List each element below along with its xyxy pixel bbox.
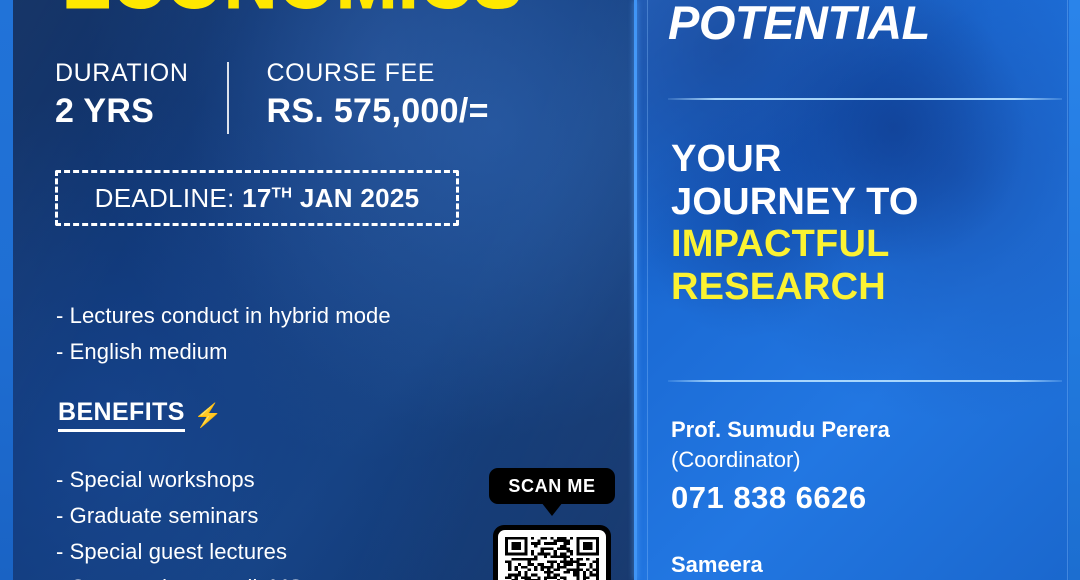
fact-course-fee-value: RS. 575,000/= <box>267 90 489 133</box>
journey-statement: YOUR JOURNEY TO IMPACTFUL RESEARCH <box>671 138 1051 308</box>
journey-line-1: YOUR <box>671 138 1051 181</box>
contact-role: (Coordinator) <box>671 445 1051 475</box>
deadline-rest: JAN 2025 <box>292 183 419 213</box>
left-panel: ECONOMICS DURATION 2 YRS COURSE FEE RS. … <box>0 0 636 580</box>
divider-top <box>668 98 1062 100</box>
divider-bottom <box>668 380 1062 382</box>
fact-duration-label: DURATION <box>55 58 189 89</box>
list-item: - English medium <box>56 334 391 370</box>
course-promo-poster: ECONOMICS DURATION 2 YRS COURSE FEE RS. … <box>0 0 1080 580</box>
list-item: - Graduate seminars <box>56 498 314 534</box>
deadline-prefix: DEADLINE: <box>95 183 243 213</box>
journey-line-4: RESEARCH <box>671 266 1051 309</box>
right-panel: UNLEASHING POTENTIAL YOUR JOURNEY TO IMP… <box>637 0 1080 580</box>
contact-block: Prof. Sumudu Perera (Coordinator) 071 83… <box>671 415 1051 580</box>
course-facts: DURATION 2 YRS COURSE FEE RS. 575,000/= <box>55 58 489 134</box>
journey-line-3: IMPACTFUL <box>671 223 1051 266</box>
panel-vertical-divider <box>634 0 637 580</box>
deadline-text: DEADLINE: 17TH JAN 2025 <box>95 183 420 214</box>
deadline-box: DEADLINE: 17TH JAN 2025 <box>55 170 459 226</box>
fact-duration: DURATION 2 YRS <box>55 58 189 133</box>
fact-duration-value: 2 YRS <box>55 90 189 133</box>
fact-separator <box>227 62 229 134</box>
qr-code-inner <box>498 530 606 580</box>
deadline-ordinal: TH <box>272 184 293 201</box>
benefits-heading-label: BENEFITS <box>58 398 185 432</box>
right-edge-accent-strip <box>1069 0 1080 580</box>
fact-course-fee: COURSE FEE RS. 575,000/= <box>267 58 489 133</box>
qr-code-frame[interactable] <box>493 525 611 580</box>
scan-me-label: SCAN ME <box>508 476 595 497</box>
delivery-mode-list: - Lectures conduct in hybrid mode - Engl… <box>56 298 391 369</box>
headline: UNLEASHING POTENTIAL <box>668 0 1068 46</box>
contact-name: Prof. Sumudu Perera <box>671 415 1051 445</box>
list-item: - Opportunity to audit MSc <box>56 570 314 580</box>
headline-line-2: POTENTIAL <box>668 0 1068 46</box>
benefits-list: - Special workshops - Graduate seminars … <box>56 462 314 580</box>
benefits-heading: BENEFITS ⚡ <box>58 398 222 432</box>
journey-line-2: JOURNEY TO <box>671 181 1051 224</box>
scan-me-badge: SCAN ME <box>489 468 615 504</box>
fact-course-fee-label: COURSE FEE <box>267 58 489 89</box>
list-item: - Lectures conduct in hybrid mode <box>56 298 391 334</box>
contact-phone[interactable]: 071 838 6626 <box>671 479 1051 518</box>
qr-code <box>505 537 599 580</box>
left-edge-accent-strip <box>0 0 13 580</box>
lightning-bolt-icon: ⚡ <box>194 404 223 427</box>
course-title: ECONOMICS <box>62 0 523 20</box>
list-item: - Special workshops <box>56 462 314 498</box>
scan-me-block[interactable]: SCAN ME <box>489 468 615 580</box>
list-item: - Special guest lectures <box>56 534 314 570</box>
contact-name-secondary: Sameera <box>671 550 1051 580</box>
deadline-day: 17 <box>242 183 272 213</box>
